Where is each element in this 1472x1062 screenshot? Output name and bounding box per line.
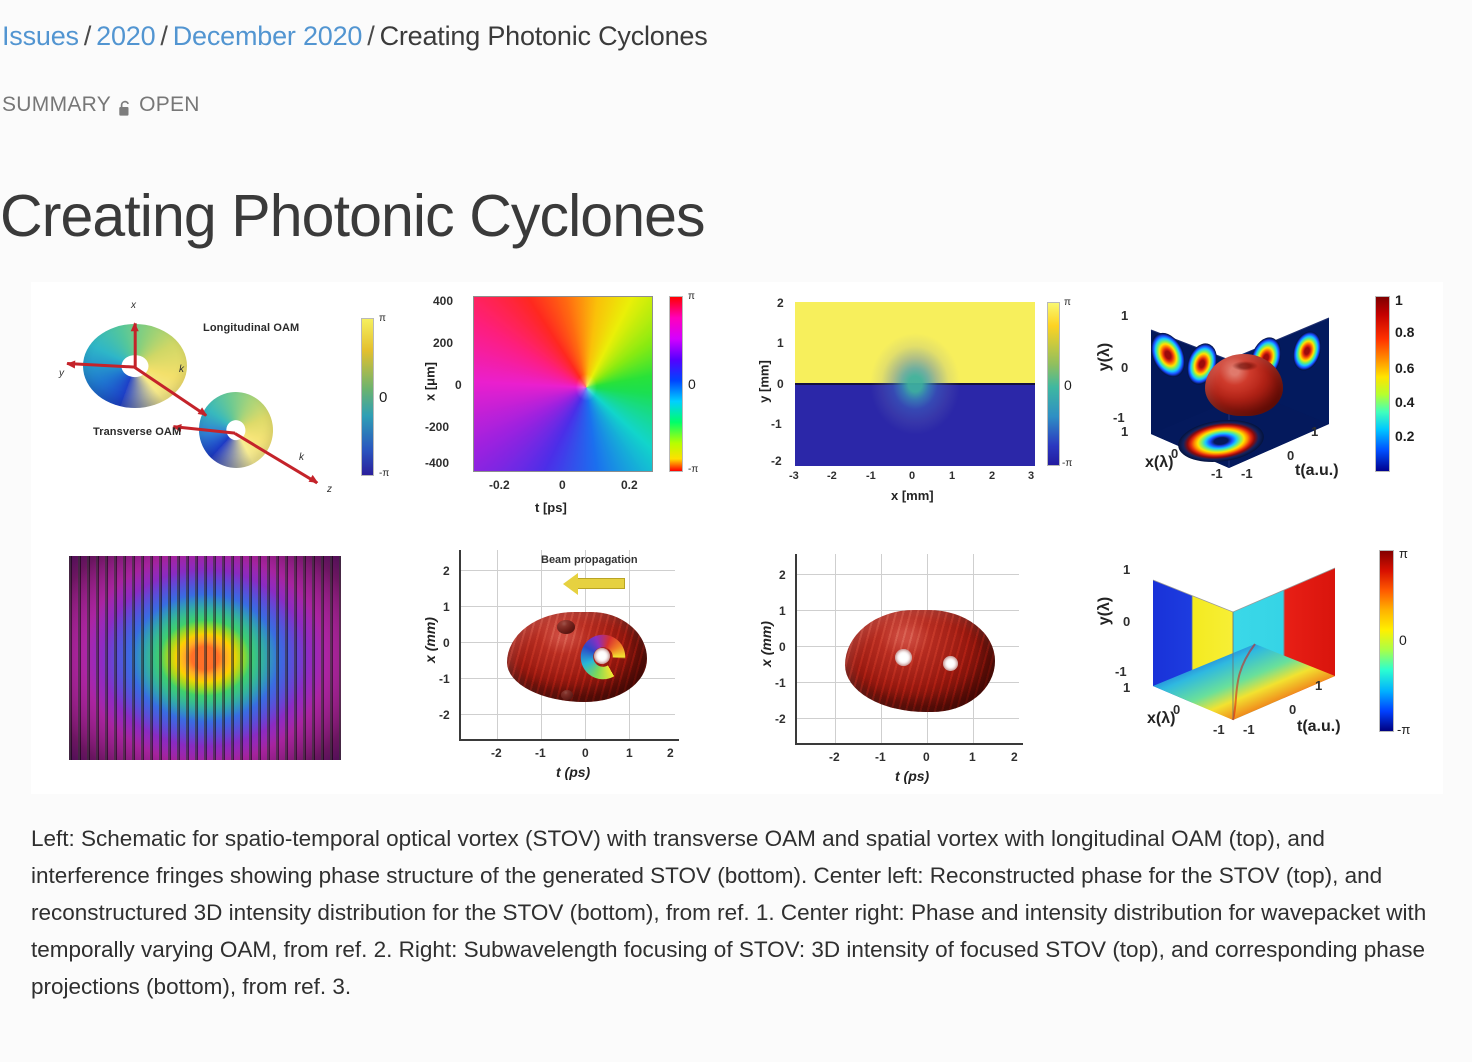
panel-g-vortex-hole-2: [943, 656, 958, 671]
panel-g-gridline-v1: [835, 554, 836, 744]
panel-g-xtick-0: 0: [923, 750, 930, 764]
breadcrumb-link-issues[interactable]: Issues: [2, 21, 79, 51]
annotation-longitudinal-oam: Longitudinal OAM: [203, 322, 299, 334]
panel-h-ztick-neg1: -1: [1243, 722, 1255, 737]
panel-h-colorbar-tick-mid: 0: [1399, 632, 1407, 648]
panel-d-ytick-0: 0: [1121, 360, 1128, 375]
panel-g-xtick-neg2: -2: [829, 750, 840, 764]
panel-d-ztick-1: 1: [1311, 424, 1318, 439]
panel-b-colorbar-tick-top: π: [688, 291, 695, 302]
panel-d-3d-intensity: 1 0 -1 1 0 -1 -1 0 1 y(λ) x(λ) t(a.u.) 1…: [1083, 282, 1443, 534]
axis-label-y: y: [59, 368, 64, 379]
panel-g-ytick-neg2: -2: [775, 712, 786, 726]
panel-e-interference-fringes: [31, 534, 411, 794]
panel-b-xtick-0: 0: [559, 478, 566, 492]
panel-d-colorbar-tick-04: 0.4: [1395, 394, 1414, 410]
breadcrumb-link-2020[interactable]: 2020: [96, 21, 155, 51]
annotation-transverse-oam: Transverse OAM: [93, 426, 181, 438]
panel-g-gridline-h1: [795, 574, 1019, 575]
panel-c-phase-distribution: 2 1 0 -1 -2 -3 -2 -1 0 1 2 3 x [mm] y [m…: [745, 282, 1083, 534]
panel-d-colorbar-tick-1: 1: [1395, 292, 1403, 308]
axis-label-x: x: [131, 300, 136, 311]
panel-h-colorbar-tick-top: π: [1399, 546, 1408, 561]
panel-f-isosurface-bump: [557, 620, 575, 634]
panel-c-colorbar-tick-top: π: [1064, 297, 1071, 308]
panel-e-fringe-image: [69, 556, 341, 760]
panel-c-xtick-neg3: -3: [789, 470, 799, 482]
figure-image[interactable]: x y z k k Longitudinal OAM Transverse OA…: [31, 282, 1443, 794]
breadcrumb-current-page: Creating Photonic Cyclones: [380, 21, 708, 51]
panel-c-ytick-neg2: -2: [771, 454, 782, 468]
panel-c-colorbar: [1047, 302, 1060, 466]
panel-f-xtick-neg2: -2: [491, 746, 502, 760]
panel-g-xtick-2: 2: [1011, 750, 1018, 764]
panel-h-ytick-1: 1: [1123, 562, 1130, 577]
panel-f-stov-isosurface: Beam propagation 2 1 0 -1 -2 -2 -1 0 1 2…: [411, 534, 745, 794]
panel-b-reconstructed-phase: 400 200 0 -200 -400 -0.2 0 0.2 t [ps] x …: [411, 282, 745, 534]
panel-b-ytick-0: 0: [455, 378, 462, 392]
panel-b-colorbar: [669, 296, 683, 472]
panel-e-fringe-highlights: [69, 556, 341, 760]
panel-f-gridline-v1: [497, 550, 498, 740]
panel-f-ylabel: x (mm): [422, 605, 438, 675]
panel-f-xaxis: [459, 739, 679, 741]
panel-f-isosurface-speck: [561, 690, 573, 700]
panel-f-beam-arrow: [577, 578, 625, 589]
panel-c-colorbar-tick-mid: 0: [1064, 377, 1072, 393]
panel-h-ytick-0: 0: [1123, 614, 1130, 629]
panel-g-xlabel: t (ps): [895, 768, 929, 784]
panel-c-xtick-neg2: -2: [827, 470, 837, 482]
panel-f-yaxis: [459, 550, 461, 740]
panel-c-vortex-core: [853, 313, 978, 454]
panel-b-xlabel: t [ps]: [535, 500, 567, 515]
panel-c-ylabel: y [mm]: [757, 347, 772, 417]
panel-f-ytick-neg1: -1: [439, 672, 450, 686]
panel-c-xtick-neg1: -1: [866, 470, 876, 482]
breadcrumb-separator-3: /: [362, 21, 379, 51]
panel-h-xtick-neg1: -1: [1213, 722, 1225, 737]
panel-h-xlabel: x(λ): [1147, 710, 1175, 728]
panel-f-ytick-2: 2: [443, 564, 450, 578]
panel-d-colorbar-tick-06: 0.6: [1395, 360, 1414, 376]
panel-d-ztick-neg1: -1: [1241, 466, 1253, 481]
panel-d-zlabel: t(a.u.): [1295, 462, 1339, 480]
figure-caption: Left: Schematic for spatio-temporal opti…: [31, 820, 1445, 1005]
summary-label: SUMMARY: [2, 92, 111, 118]
page-title: Creating Photonic Cyclones: [0, 181, 705, 251]
panel-d-isosurface-dimple: [1232, 361, 1259, 371]
panel-c-xtick-3: 3: [1028, 470, 1034, 482]
panel-g-stov-isosurface-two: 2 1 0 -1 -2 -2 -1 0 1 2 t (ps) x (mm): [745, 534, 1083, 794]
panel-a-colorbar-tick-mid: 0: [379, 389, 387, 406]
panel-h-colorbar: [1379, 550, 1394, 732]
panel-h-ztick-1: 1: [1315, 678, 1322, 693]
panel-b-ytick-400: 400: [433, 294, 453, 308]
panel-g-ytick-1: 1: [779, 604, 786, 618]
panel-f-xlabel: t (ps): [556, 764, 590, 780]
panel-g-ylabel: x (mm): [758, 609, 774, 679]
panel-h-ylabel: y(λ): [1096, 597, 1114, 625]
panel-g-xtick-neg1: -1: [875, 750, 886, 764]
panel-d-ztick-0: 0: [1287, 448, 1294, 463]
panel-g-xtick-1: 1: [969, 750, 976, 764]
panel-f-xtick-1: 1: [626, 746, 633, 760]
panel-c-ytick-neg1: -1: [771, 417, 782, 431]
panel-f-ytick-neg2: -2: [439, 708, 450, 722]
panel-c-ytick-0: 0: [777, 377, 784, 391]
panel-f-ytick-1: 1: [443, 600, 450, 614]
breadcrumb-separator-2: /: [155, 21, 172, 51]
article-page: Issues/2020/December 2020/Creating Photo…: [0, 0, 1472, 1062]
panel-d-ylabel: y(λ): [1096, 343, 1114, 371]
panel-a-colorbar-tick-bot: -π: [379, 468, 389, 479]
panel-g-ytick-0: 0: [779, 640, 786, 654]
breadcrumb-link-december-2020[interactable]: December 2020: [173, 21, 363, 51]
panel-b-colorbar-tick-bot: -π: [688, 464, 698, 475]
panel-g-gridline-h5: [795, 718, 1019, 719]
panel-h-zlabel: t(a.u.): [1297, 718, 1341, 736]
open-padlock-icon: [118, 98, 132, 115]
panel-c-ytick-1: 1: [777, 336, 784, 350]
panel-f-gridline-h2: [459, 606, 675, 607]
panel-d-xtick-neg1: -1: [1211, 466, 1223, 481]
panel-c-xtick-0: 0: [909, 470, 915, 482]
panel-c-colorbar-tick-bot: -π: [1062, 458, 1072, 469]
panel-h-ztick-0: 0: [1289, 702, 1296, 717]
access-label: OPEN: [139, 92, 200, 118]
panel-a-colorbar: [361, 318, 374, 476]
panel-h-phase-projections: 1 0 -1 1 0 -1 -1 0 1 y(λ) x(λ) t(a.u.) π…: [1083, 534, 1443, 794]
panel-b-colorbar-tick-mid: 0: [688, 376, 696, 392]
panel-b-ytick-neg200: -200: [425, 420, 449, 434]
panel-h-xtick-1: 1: [1123, 680, 1130, 695]
panel-f-xtick-neg1: -1: [535, 746, 546, 760]
panel-f-vortex-hole: [594, 648, 610, 664]
panel-d-colorbar-tick-02: 0.2: [1395, 428, 1414, 444]
panel-f-gridline-h1: [459, 570, 675, 571]
panel-g-isosurface-ribs: [845, 610, 995, 712]
axis-arrow-x: [134, 323, 137, 367]
axis-label-k2: k: [299, 452, 304, 463]
axis-label-k1: k: [179, 364, 184, 375]
panel-f-beam-propagation-label: Beam propagation: [541, 554, 638, 566]
breadcrumb: Issues/2020/December 2020/Creating Photo…: [2, 18, 708, 54]
panel-a-colorbar-tick-top: π: [379, 313, 386, 324]
panel-d-ytick-1: 1: [1121, 308, 1128, 323]
panel-g-xaxis: [795, 743, 1023, 745]
panel-c-ytick-2: 2: [777, 296, 784, 310]
panel-d-colorbar: [1375, 296, 1390, 472]
panel-f-xtick-2: 2: [667, 746, 674, 760]
panel-g-isosurface: [845, 610, 995, 712]
panel-d-xlabel: x(λ): [1145, 454, 1173, 472]
figure-panel-grid: x y z k k Longitudinal OAM Transverse OA…: [31, 282, 1443, 794]
panel-h-ytick-neg1: -1: [1115, 664, 1127, 679]
panel-h-colorbar-tick-bot: -π: [1397, 722, 1410, 737]
panel-b-ytick-neg400: -400: [425, 456, 449, 470]
panel-b-ylabel: x [μm]: [423, 347, 438, 417]
panel-g-ytick-neg1: -1: [775, 676, 786, 690]
panel-c-xtick-2: 2: [989, 470, 995, 482]
panel-d-ytick-neg1: -1: [1113, 410, 1125, 425]
panel-d-colorbar-tick-08: 0.8: [1395, 324, 1414, 340]
panel-d-xtick-1: 1: [1121, 424, 1128, 439]
panel-d-isosurface: [1205, 354, 1283, 416]
panel-b-xtick-neg02: -0.2: [489, 478, 510, 492]
panel-c-xlabel: x [mm]: [891, 488, 934, 503]
panel-g-yaxis: [795, 554, 797, 744]
panel-a-oam-schematic: x y z k k Longitudinal OAM Transverse OA…: [31, 282, 411, 534]
panel-b-xtick-02: 0.2: [621, 478, 638, 492]
panel-b-plot-frame: [473, 296, 653, 472]
breadcrumb-separator-1: /: [79, 21, 96, 51]
article-meta: SUMMARY OPEN: [2, 92, 200, 118]
panel-c-xtick-1: 1: [949, 470, 955, 482]
panel-f-xtick-0: 0: [582, 746, 589, 760]
panel-f-ytick-0: 0: [443, 636, 450, 650]
panel-c-heatmap: [795, 302, 1035, 466]
panel-f-gridline-h5: [459, 714, 675, 715]
panel-g-vortex-hole-1: [895, 649, 912, 666]
axis-label-z: z: [327, 484, 332, 495]
panel-g-ytick-2: 2: [779, 568, 786, 582]
